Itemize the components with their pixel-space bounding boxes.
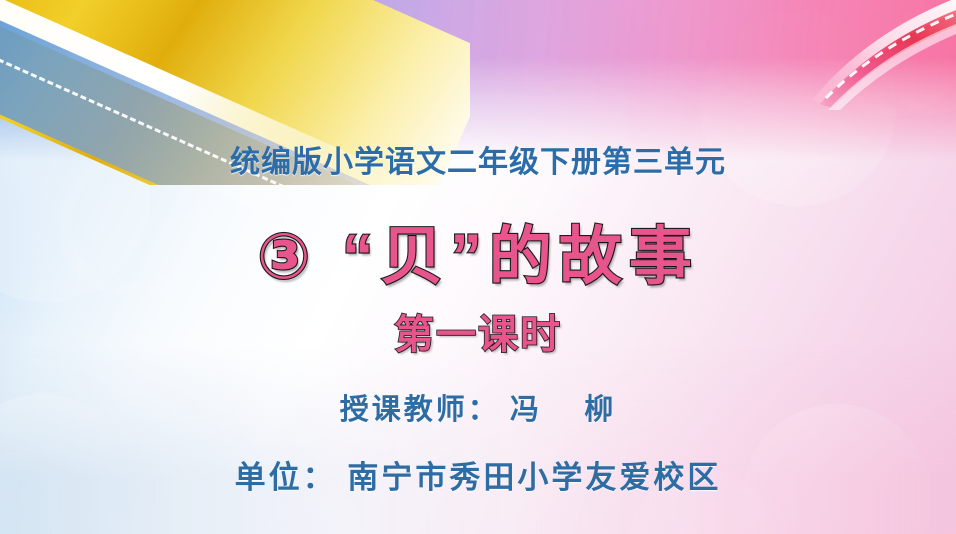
school-line: 单位： 南宁市秀田小学友爱校区 (0, 452, 956, 497)
subject-line: 统编版小学语文二年级下册第三单元 (0, 137, 956, 181)
teacher-line: 授课教师： 冯 柳 (0, 386, 956, 428)
presentation-slide: 统编版小学语文二年级下册第三单元 ③ “贝”的故事 第一课时 授课教师： 冯 柳… (0, 0, 956, 534)
slide-content: 统编版小学语文二年级下册第三单元 ③ “贝”的故事 第一课时 授课教师： 冯 柳… (0, 0, 956, 534)
lesson-label: 第一课时 (0, 302, 956, 360)
slide-title: ③ “贝”的故事 (0, 206, 956, 297)
